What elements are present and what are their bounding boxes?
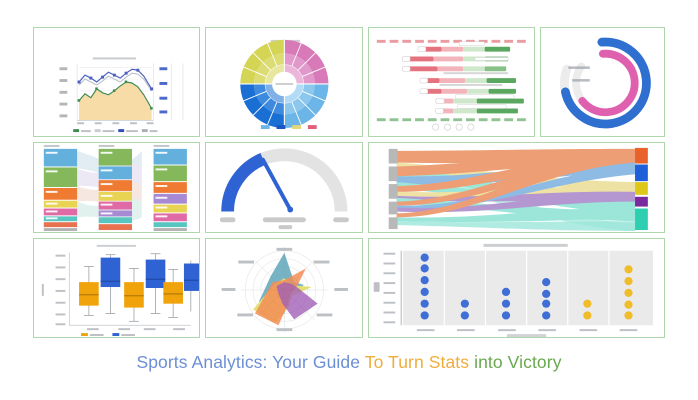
title-part-1: Sports Analytics: Your Guide bbox=[136, 352, 364, 372]
dot-plot-svg bbox=[369, 239, 664, 337]
panel-gantt-timeline[interactable] bbox=[368, 27, 535, 137]
alluvial-svg bbox=[34, 143, 199, 232]
alluvial-column-3 bbox=[154, 149, 187, 231]
panel-box-plot[interactable] bbox=[33, 238, 200, 338]
panel-sankey-diagram[interactable] bbox=[368, 142, 665, 233]
area-line-chart-svg bbox=[34, 28, 199, 136]
gantt-row bbox=[403, 57, 509, 62]
sankey-svg bbox=[369, 143, 664, 232]
radar-svg bbox=[206, 239, 363, 337]
panel-radial-progress[interactable] bbox=[540, 27, 665, 137]
title-part-3: into Victory bbox=[474, 352, 561, 372]
sunburst-donut-svg bbox=[206, 28, 363, 136]
chart-grid bbox=[33, 27, 665, 338]
gauge-svg bbox=[206, 143, 363, 232]
gantt-row bbox=[436, 99, 524, 104]
box-plot-svg bbox=[34, 239, 199, 337]
chart-row-3 bbox=[33, 238, 665, 338]
chart-row-2 bbox=[33, 142, 665, 233]
title-part-2: To Turn Stats bbox=[365, 352, 474, 372]
chart-row-1 bbox=[33, 27, 665, 137]
panel-alluvial-diagram[interactable] bbox=[33, 142, 200, 233]
page-title: Sports Analytics: Your Guide To Turn Sta… bbox=[0, 352, 698, 373]
radial-progress-svg bbox=[541, 28, 664, 136]
gantt-timeline-svg bbox=[369, 28, 534, 136]
panel-dot-strip-plot[interactable] bbox=[368, 238, 665, 338]
sankey-target-nodes bbox=[635, 148, 648, 230]
panel-area-line-chart[interactable] bbox=[33, 27, 200, 137]
panel-speedometer-gauge[interactable] bbox=[205, 142, 364, 233]
panel-sunburst-donut[interactable] bbox=[205, 27, 364, 137]
panel-radar-chart[interactable] bbox=[205, 238, 364, 338]
alluvial-column-2 bbox=[99, 149, 132, 230]
